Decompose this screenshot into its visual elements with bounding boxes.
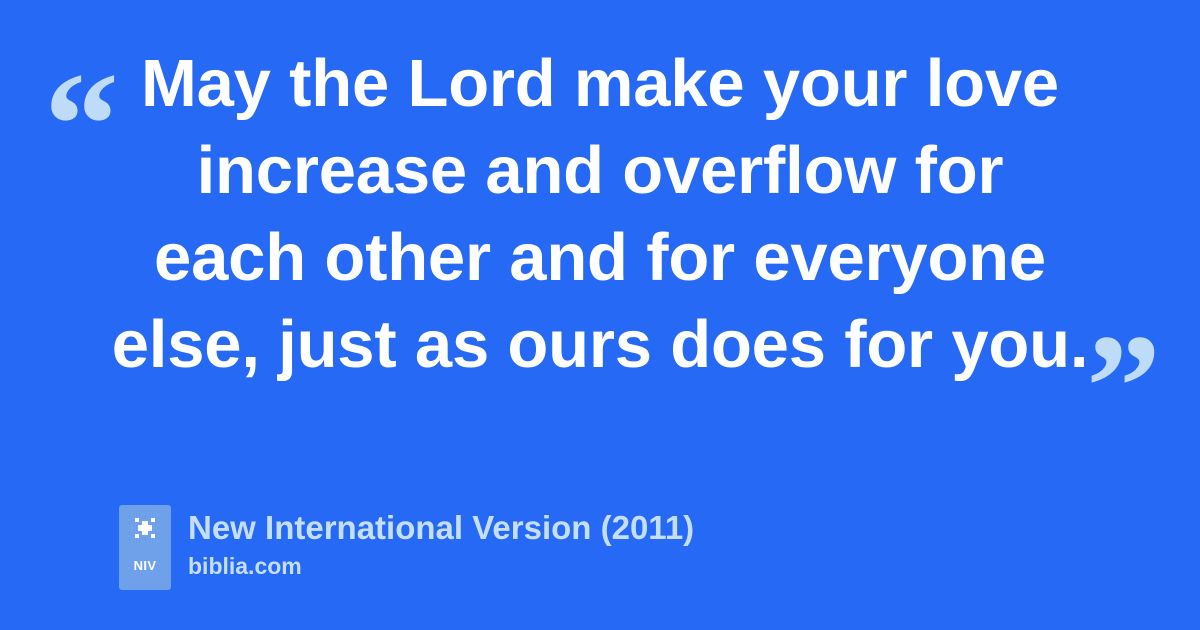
bible-version-title: New International Version (2011) bbox=[188, 508, 694, 548]
crop-marker-cross-icon bbox=[131, 516, 159, 544]
quote-block: “ May the Lord make your love increase a… bbox=[0, 40, 1200, 420]
attribution: NIV New International Version (2011) bib… bbox=[119, 505, 694, 590]
quote-line: increase and overflow for bbox=[0, 127, 1200, 214]
verse-image-card: “ May the Lord make your love increase a… bbox=[0, 0, 1200, 630]
quote-line: May the Lord make your love bbox=[0, 40, 1200, 127]
quote-text: May the Lord make your love increase and… bbox=[0, 40, 1200, 388]
attribution-text: New International Version (2011) biblia.… bbox=[188, 505, 694, 580]
quote-line: else, just as ours does for you. bbox=[0, 301, 1200, 388]
site-url: biblia.com bbox=[188, 552, 694, 580]
bible-version-badge: NIV bbox=[119, 505, 171, 590]
close-quote-mark: ” bbox=[1086, 312, 1161, 462]
badge-abbreviation: NIV bbox=[134, 559, 157, 572]
quote-line: each other and for everyone bbox=[0, 214, 1200, 301]
